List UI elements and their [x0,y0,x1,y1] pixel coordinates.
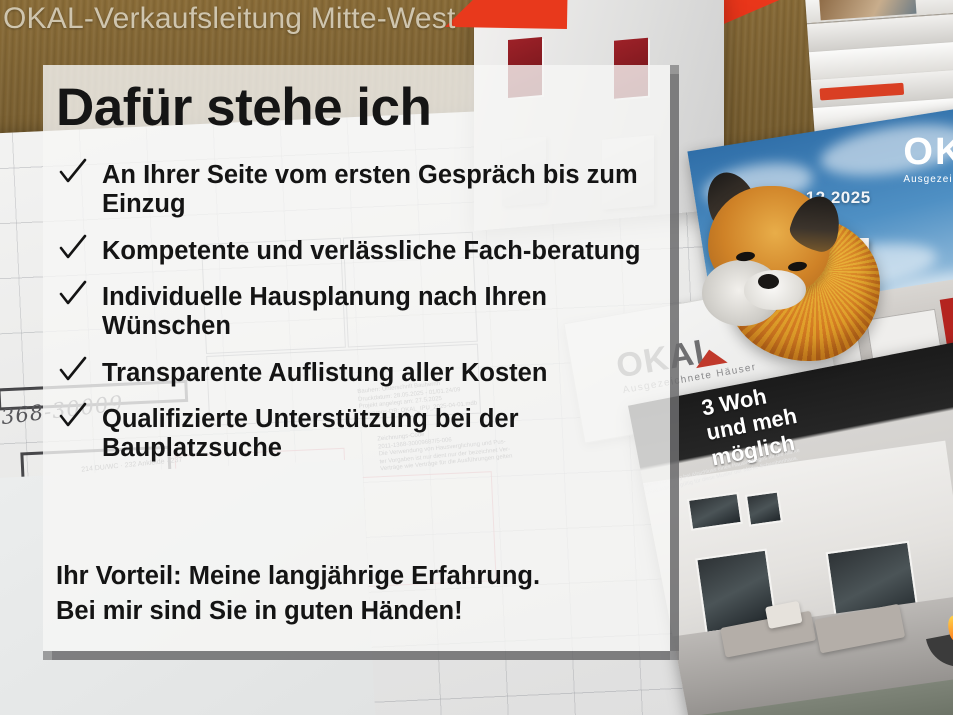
brochure-red-band [819,83,904,101]
screenshot-canvas: 1368-30009 Bauherr: Unterschrift Bauherr… [0,0,953,715]
fox-nose [758,274,779,289]
check-icon [58,157,88,187]
list-item: Individuelle Hausplanung nach Ihren Wüns… [56,283,656,342]
page-title: OKAL-Verkaufsleitung Mitte-West [3,2,456,36]
check-icon [58,401,88,431]
list-item-label: Transparente Auflistung aller Kosten [102,359,547,387]
content-card: Dafür stehe ich An Ihrer Seite vom erste… [43,65,670,651]
list-item: An Ihrer Seite vom ersten Gespräch bis z… [56,161,656,220]
house-roof-left [445,0,569,29]
benefits-list: An Ihrer Seite vom ersten Gespräch bis z… [56,161,656,481]
brochure-brand-tagline: Ausgezeich [904,174,953,185]
facade-window [745,490,783,526]
fox-eye-right [787,261,807,273]
check-icon [58,233,88,263]
list-item-label: Qualifizierte Unterstützung bei der Baup… [102,405,519,462]
list-item-label: Kompetente und verlässliche Fach-beratun… [102,237,640,265]
facade-window [687,492,743,531]
closing-statement: Ihr Vorteil: Meine langjährige Erfahrung… [56,559,656,629]
list-item: Kompetente und verlässliche Fach-beratun… [56,237,656,266]
closing-line-2: Bei mir sind Sie in guten Händen! [56,594,656,629]
list-item-label: An Ihrer Seite vom ersten Gespräch bis z… [102,161,638,218]
plush-fox-figurine [700,156,885,361]
list-item-label: Individuelle Hausplanung nach Ihren Wüns… [102,283,547,340]
card-heading: Dafür stehe ich [56,77,431,138]
list-item: Transparente Auflistung aller Kosten [56,359,656,388]
check-icon [58,279,88,309]
check-icon [58,355,88,385]
closing-line-1: Ihr Vorteil: Meine langjährige Erfahrung… [56,559,656,594]
brochure-brand-name: OK [904,131,953,174]
brochure-brand-lockup: OK Ausgezeich [904,131,953,185]
list-item: Qualifizierte Unterstützung bei der Baup… [56,405,656,464]
